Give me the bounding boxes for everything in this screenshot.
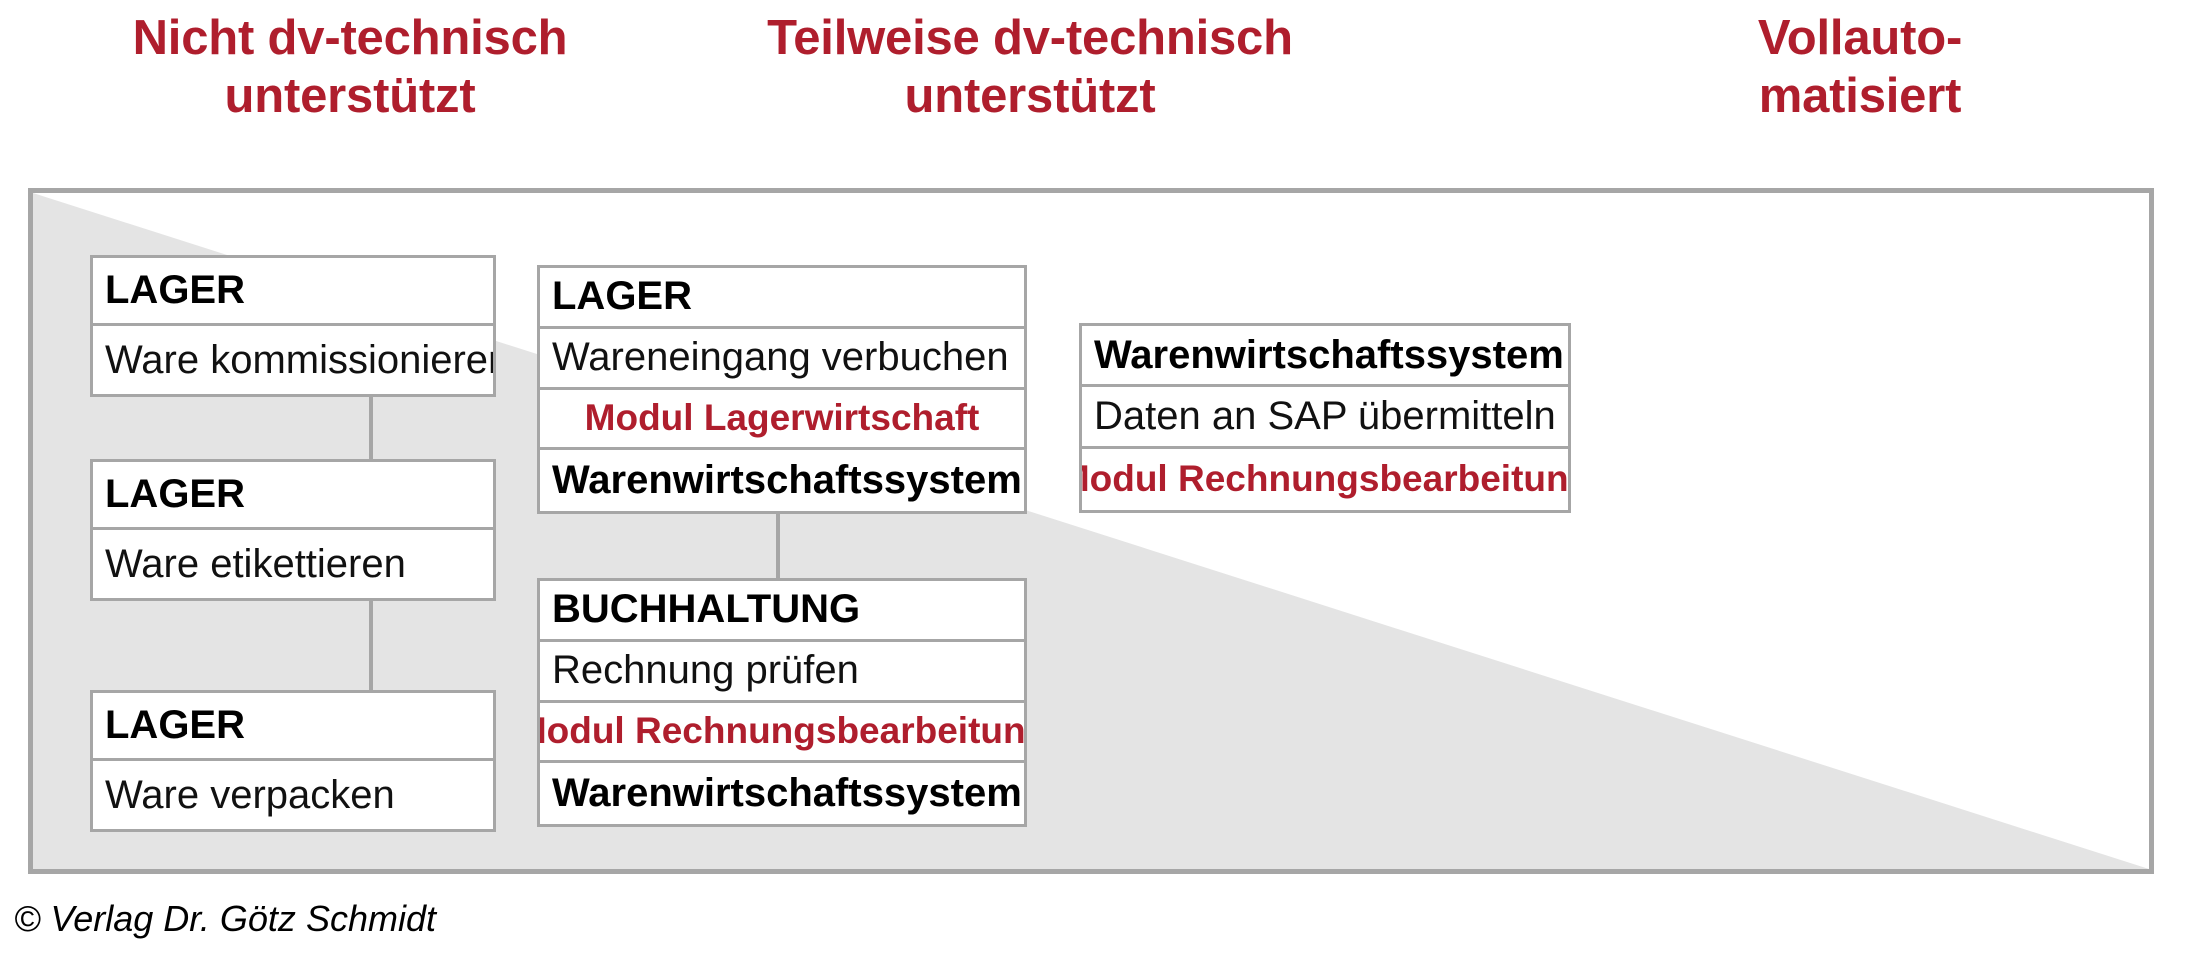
- box-system: Warenwirtschaftssystem: [540, 450, 1024, 511]
- process-box-daten-an-sap-uebermitteln[interactable]: Warenwirtschaftssystem Daten an SAP über…: [1079, 323, 1571, 513]
- box-org-unit: LAGER: [540, 268, 1024, 329]
- process-box-rechnung-pruefen[interactable]: BUCHHALTUNG Rechnung prüfen Modul Rechnu…: [537, 578, 1027, 827]
- header-line-1: Teilweise dv-technisch: [700, 10, 1360, 68]
- connector-col1-box2-box3: [369, 599, 373, 691]
- connector-col1-box1-box2: [369, 396, 373, 460]
- header-line-1: Vollauto-: [1560, 10, 2160, 68]
- box-task: Ware etikettieren: [93, 530, 493, 598]
- box-task: Daten an SAP übermitteln: [1082, 387, 1568, 448]
- box-org-unit: BUCHHALTUNG: [540, 581, 1024, 642]
- process-box-ware-kommissionieren[interactable]: LAGER Ware kommissionieren: [90, 255, 496, 397]
- column-header-vollautomatisiert: Vollauto- matisiert: [1560, 10, 2160, 126]
- process-box-ware-etikettieren[interactable]: LAGER Ware etikettieren: [90, 459, 496, 601]
- box-org-unit: LAGER: [93, 693, 493, 761]
- header-line-1: Nicht dv-technisch: [30, 10, 670, 68]
- box-system: Warenwirtschaftssystem: [540, 763, 1024, 824]
- box-task: Wareneingang verbuchen: [540, 329, 1024, 390]
- box-module: Modul Rechnungsbearbeitung: [540, 703, 1024, 764]
- box-org-unit: LAGER: [93, 258, 493, 326]
- process-box-wareneingang-verbuchen[interactable]: LAGER Wareneingang verbuchen Modul Lager…: [537, 265, 1027, 514]
- box-org-unit: LAGER: [93, 462, 493, 530]
- header-line-2: matisiert: [1560, 68, 2160, 126]
- process-box-ware-verpacken[interactable]: LAGER Ware verpacken: [90, 690, 496, 832]
- header-line-2: unterstützt: [700, 68, 1360, 126]
- box-task: Ware kommissionieren: [93, 326, 493, 394]
- box-module: Modul Rechnungsbearbeitung: [1082, 449, 1568, 510]
- diagram-frame: LAGER Ware kommissionieren LAGER Ware et…: [28, 188, 2154, 874]
- copyright-notice: © Verlag Dr. Götz Schmidt: [14, 898, 436, 940]
- box-task: Ware verpacken: [93, 761, 493, 829]
- box-module: Modul Lagerwirtschaft: [540, 390, 1024, 451]
- header-line-2: unterstützt: [30, 68, 670, 126]
- box-org-unit: Warenwirtschaftssystem: [1082, 326, 1568, 387]
- connector-col2-box1-box2: [776, 513, 780, 579]
- column-header-teilweise-dv-technisch: Teilweise dv-technisch unterstützt: [700, 10, 1360, 126]
- column-header-nicht-dv-technisch: Nicht dv-technisch unterstützt: [30, 10, 670, 126]
- box-task: Rechnung prüfen: [540, 642, 1024, 703]
- column-headers: Nicht dv-technisch unterstützt Teilweise…: [0, 0, 2188, 178]
